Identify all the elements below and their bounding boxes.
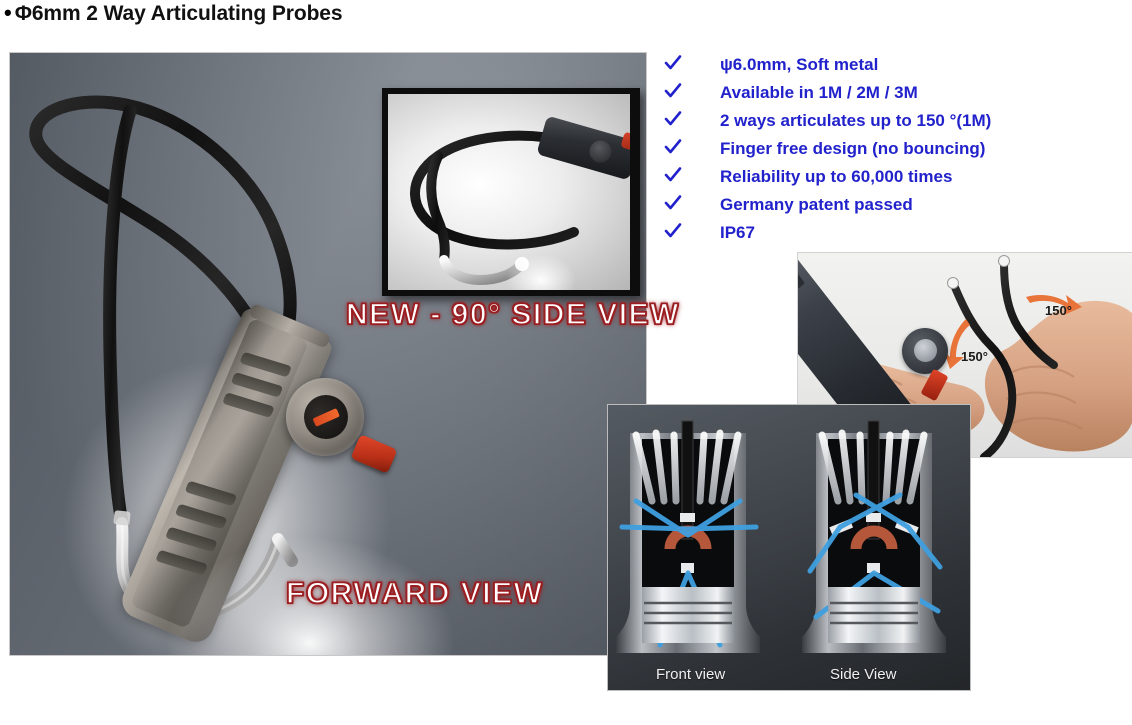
check-icon — [664, 220, 690, 240]
page-title-text: Φ6mm 2 Way Articulating Probes — [15, 2, 343, 26]
label-forward-view: FORWARD VIEW — [286, 577, 543, 611]
list-item: Reliability up to 60,000 times — [664, 164, 1132, 192]
feature-list: ψ6.0mm, Soft metal Available in 1M / 2M … — [664, 52, 1132, 248]
feature-text: IP67 — [720, 220, 755, 246]
feature-text: 2 ways articulates up to 150 °(1M) — [720, 108, 991, 134]
dial-inner-hub — [297, 388, 355, 446]
angle-label-left: 150° — [961, 349, 988, 364]
inset-photo-canvas — [388, 94, 630, 290]
ninety-degree-side-view-photo — [382, 88, 640, 296]
cylinder-inspection-diagram: Front view Side View — [608, 405, 970, 690]
diagram-caption-side: Side View — [830, 666, 896, 683]
check-icon — [664, 52, 690, 72]
feature-text: Reliability up to 60,000 times — [720, 164, 952, 190]
list-item: 2 ways articulates up to 150 °(1M) — [664, 108, 1132, 136]
feature-text: Available in 1M / 2M / 3M — [720, 80, 918, 106]
main-product-photo — [10, 53, 646, 655]
label-new-90-side-view: NEW - 90° SIDE VIEW — [346, 298, 680, 332]
check-icon — [664, 164, 690, 184]
demo-dial-hub — [914, 339, 937, 362]
check-icon — [664, 108, 690, 128]
list-item: Germany patent passed — [664, 192, 1132, 220]
title-bullet-icon: • — [4, 2, 12, 24]
inset-led-glow — [506, 254, 576, 290]
check-icon — [664, 80, 690, 100]
dial-orange-marker — [312, 408, 339, 427]
feature-text: Finger free design (no bouncing) — [720, 136, 985, 162]
inset-handle-dial — [587, 138, 614, 165]
diagram-caption-front: Front view — [656, 666, 725, 683]
cylinder-diagram-illustration — [608, 405, 970, 690]
articulation-dial — [286, 378, 364, 456]
feature-text: Germany patent passed — [720, 192, 913, 218]
demo-articulation-dial — [902, 328, 948, 374]
page-title: • Φ6mm 2 Way Articulating Probes — [4, 2, 342, 26]
list-item: IP67 — [664, 220, 1132, 248]
feature-text: ψ6.0mm, Soft metal — [720, 52, 878, 78]
check-icon — [664, 192, 690, 212]
slide-root: • Φ6mm 2 Way Articulating Probes — [0, 0, 1132, 725]
angle-label-right: 150° — [1045, 303, 1072, 318]
list-item: Available in 1M / 2M / 3M — [664, 80, 1132, 108]
check-icon — [664, 136, 690, 156]
list-item: Finger free design (no bouncing) — [664, 136, 1132, 164]
list-item: ψ6.0mm, Soft metal — [664, 52, 1132, 80]
